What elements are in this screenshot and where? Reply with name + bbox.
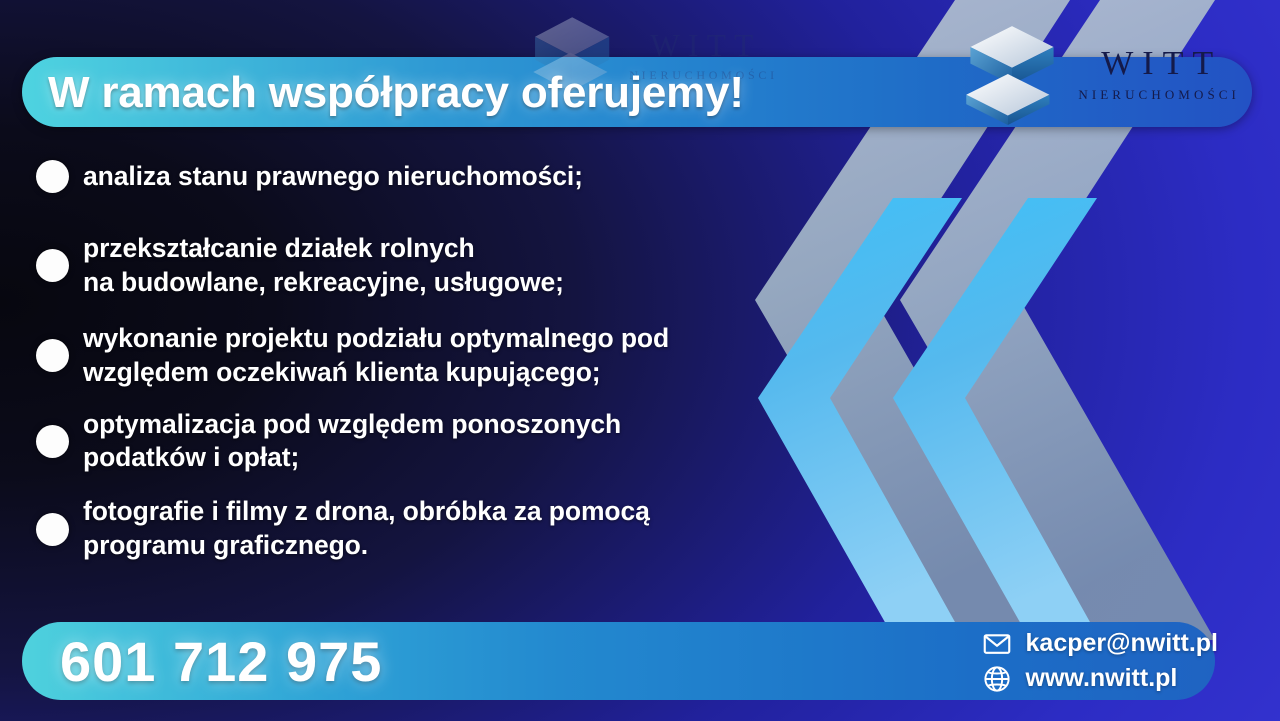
offer-list: analiza stanu prawnego nieruchomości; pr…: [36, 160, 796, 575]
list-item-text: optymalizacja pod względem ponoszonych p…: [83, 408, 621, 476]
website-address: www.nwitt.pl: [1026, 664, 1178, 693]
list-item-text: wykonanie projektu podziału optymalnego …: [83, 322, 669, 390]
circle-bullet-icon: [36, 160, 69, 193]
circle-bullet-icon: [36, 249, 69, 282]
list-item-line: przekształcanie działek rolnych: [83, 232, 564, 266]
promo-poster: WITT NIERUCHOMOŚCI W ramach współpracy o…: [0, 0, 1280, 721]
list-item-line: względem oczekiwań klienta kupującego;: [83, 356, 669, 390]
page-title: W ramach współpracy oferujemy!: [48, 58, 1048, 128]
list-item-text: przekształcanie działek rolnych na budow…: [83, 232, 564, 300]
brand-logo: WITT NIERUCHOMOŚCI: [960, 22, 1240, 126]
list-item-line: wykonanie projektu podziału optymalnego …: [83, 322, 669, 356]
chevron-bright-right: [893, 198, 1100, 640]
phone-number[interactable]: 601 712 975: [60, 622, 382, 700]
logo-tagline: NIERUCHOMOŚCI: [1074, 88, 1240, 101]
circle-bullet-icon: [36, 339, 69, 372]
isometric-blocks-logo-icon: [960, 22, 1064, 126]
list-item-line: na budowlane, rekreacyjne, usługowe;: [83, 266, 564, 300]
list-item-line: podatków i opłat;: [83, 441, 621, 475]
list-item-line: fotografie i filmy z drona, obróbka za p…: [83, 495, 650, 529]
circle-bullet-icon: [36, 425, 69, 458]
list-item: przekształcanie działek rolnych na budow…: [36, 232, 796, 300]
list-item: analiza stanu prawnego nieruchomości;: [36, 160, 796, 194]
list-item: wykonanie projektu podziału optymalnego …: [36, 322, 796, 390]
logo-name: WITT: [1092, 47, 1222, 81]
circle-bullet-icon: [36, 513, 69, 546]
list-item-text: analiza stanu prawnego nieruchomości;: [83, 160, 583, 194]
list-item: fotografie i filmy z drona, obróbka za p…: [36, 495, 796, 563]
email-row[interactable]: kacper@nwitt.pl: [982, 629, 1218, 659]
list-item-line: optymalizacja pod względem ponoszonych: [83, 408, 621, 442]
envelope-icon: [982, 629, 1012, 659]
list-item-line: programu graficznego.: [83, 529, 650, 563]
contact-details: kacper@nwitt.pl www.nwitt.pl: [982, 622, 1218, 700]
website-row[interactable]: www.nwitt.pl: [982, 664, 1218, 694]
list-item: optymalizacja pod względem ponoszonych p…: [36, 408, 796, 476]
list-item-line: analiza stanu prawnego nieruchomości;: [83, 160, 583, 194]
email-address: kacper@nwitt.pl: [1026, 629, 1218, 658]
list-item-text: fotografie i filmy z drona, obróbka za p…: [83, 495, 650, 563]
globe-icon: [982, 664, 1012, 694]
